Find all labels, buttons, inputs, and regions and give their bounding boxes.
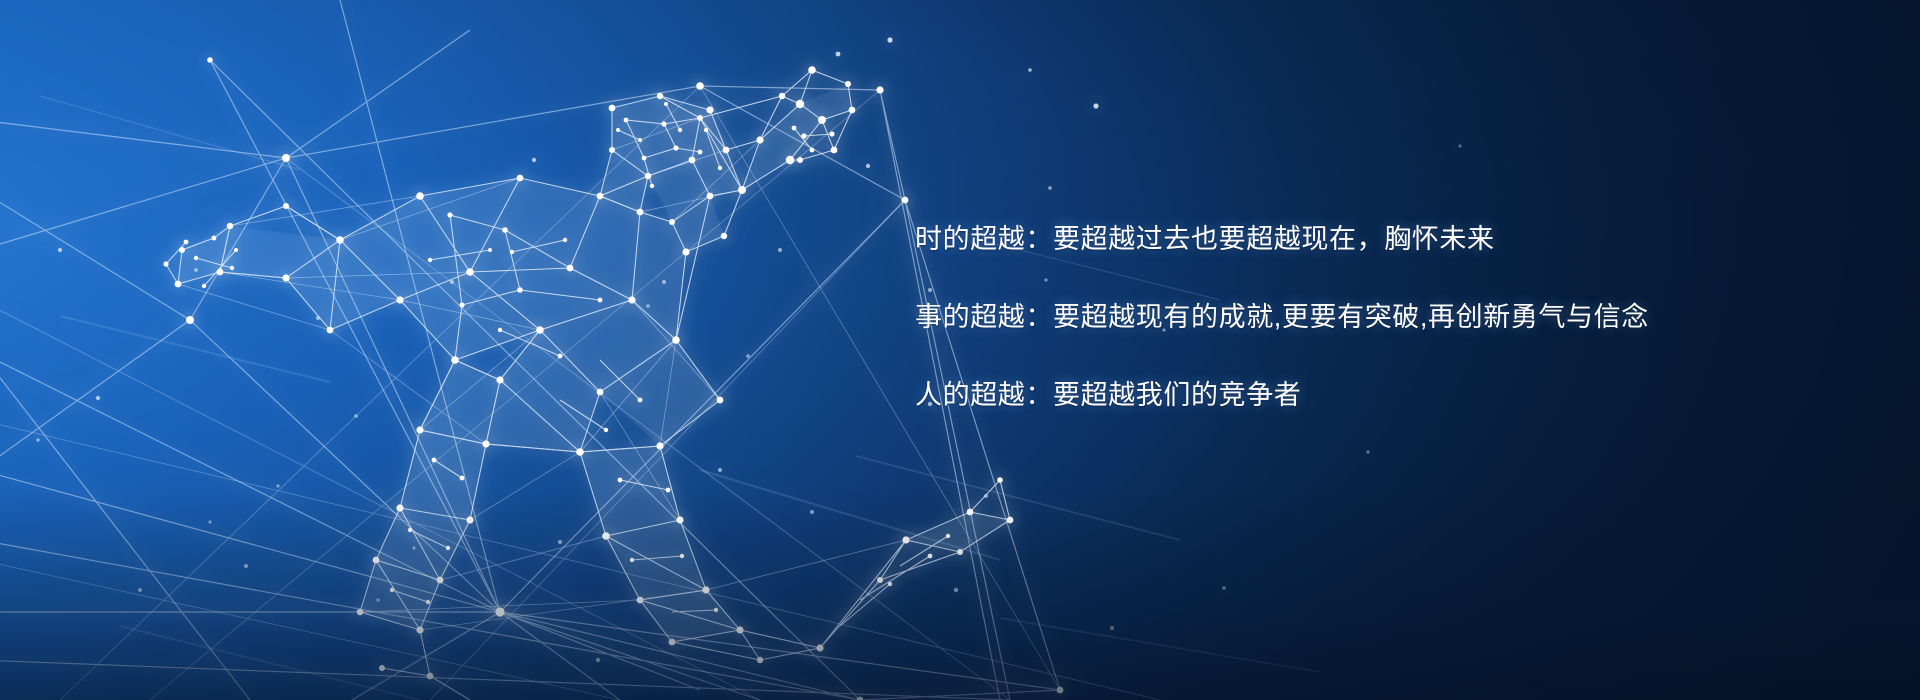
background-bottom-shade [0, 490, 1920, 700]
vision-statement-block: 时的超越：要超越过去也要超越现在，胸怀未来 事的超越：要超越现有的成就,更要有突… [915, 226, 1775, 409]
vision-line-achievement: 事的超越：要超越现有的成就,更要有突破,再创新勇气与信念 [915, 304, 1775, 331]
vision-line-people: 人的超越：要超越我们的竞争者 [915, 382, 1775, 409]
vision-line-time: 时的超越：要超越过去也要超越现在，胸怀未来 [915, 226, 1775, 253]
banner-stage: 时的超越：要超越过去也要超越现在，胸怀未来 事的超越：要超越现有的成就,更要有突… [0, 0, 1920, 700]
